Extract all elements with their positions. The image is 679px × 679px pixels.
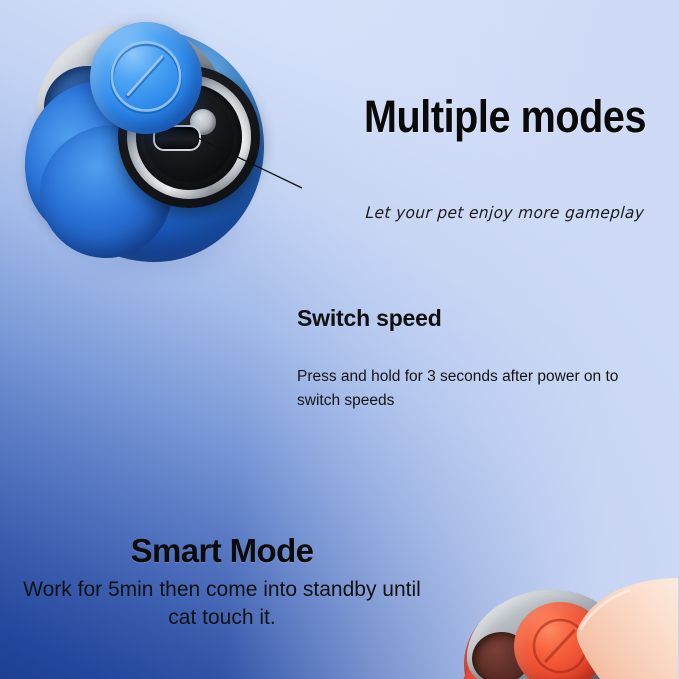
- page-subtitle: Let your pet enjoy more gameplay: [339, 203, 671, 222]
- smart-mode-title: Smart Mode: [22, 532, 422, 570]
- smart-mode-body: Work for 5min then come into standby unt…: [22, 576, 422, 631]
- callout-leader-line: [196, 136, 306, 194]
- smart-mode-block: Smart Mode Work for 5min then come into …: [22, 532, 422, 631]
- red-cat-ball-smart-mode: [452, 586, 652, 679]
- callout-body-text: Press and hold for 3 seconds after power…: [297, 365, 647, 413]
- blue-ball-power-button[interactable]: [90, 22, 202, 134]
- page-title: Multiple modes: [354, 93, 657, 140]
- power-icon: [90, 22, 202, 134]
- product-infographic: Multiple modes Let your pet enjoy more g…: [0, 0, 679, 679]
- finger-press-icon: [570, 582, 678, 679]
- callout-heading: Switch speed: [297, 305, 679, 332]
